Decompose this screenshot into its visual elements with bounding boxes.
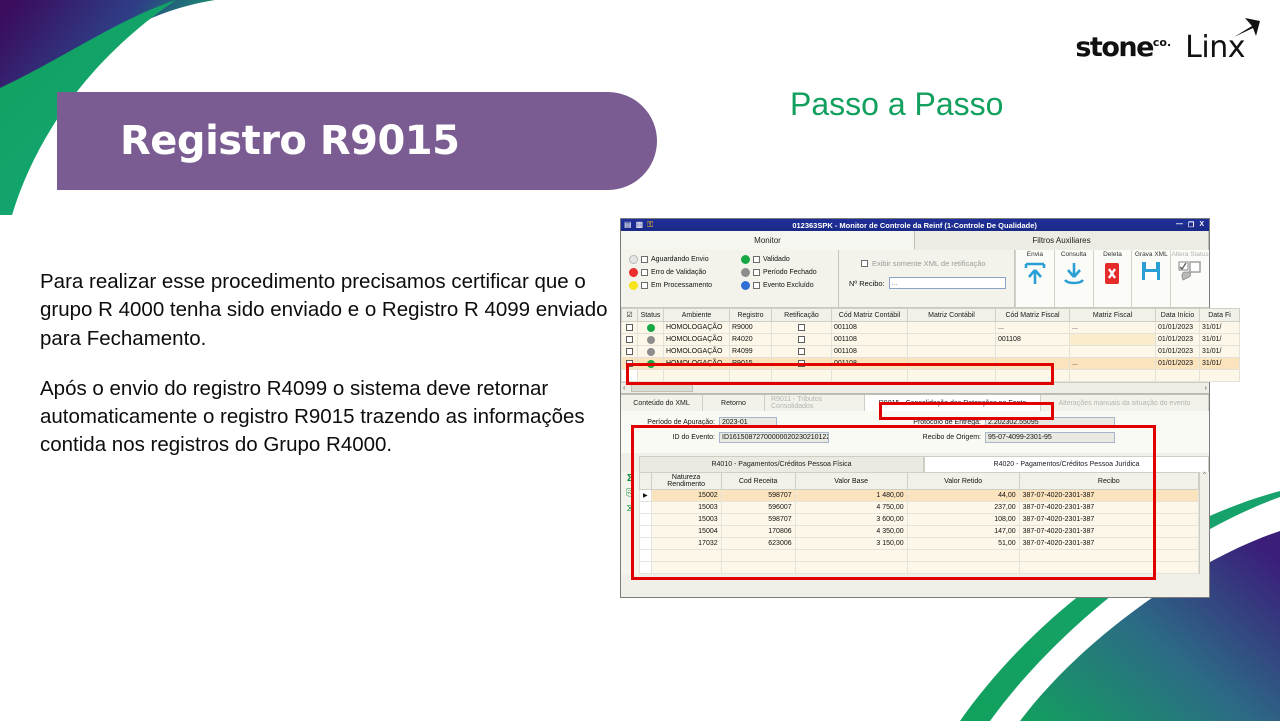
row-checkbox-cell[interactable] xyxy=(622,334,638,346)
subgrid-header-valor-retido[interactable]: Valor Retido xyxy=(907,473,1019,490)
status-bulb-erro-validacao xyxy=(629,268,638,277)
stone-logo-sup: co. xyxy=(1153,36,1171,49)
header-ambiente[interactable]: Ambiente xyxy=(664,309,730,322)
label-protocolo-entrega: Protocolo de Entrega: xyxy=(891,419,981,426)
events-table: ☑ Status Ambiente Registro Retificação C… xyxy=(621,308,1240,382)
row-data-inicio: 01/01/2023 xyxy=(1156,358,1200,370)
copy-rows-icon[interactable]: ⎘ xyxy=(626,489,634,499)
legend-checkbox-aguardando-envio[interactable] xyxy=(641,256,648,263)
paragraph-1: Para realizar esse procedimento precisam… xyxy=(40,268,615,353)
subgrid-valor-retido xyxy=(907,562,1019,574)
subtab-r4020-pessoa-juridica[interactable]: R4020 - Pagamentos/Créditos Pessoa Juríd… xyxy=(924,456,1209,472)
r9015-detail-pane: Período de Apuração: 2023-01 ID do Event… xyxy=(621,411,1209,453)
row-status-cell xyxy=(638,322,664,334)
row-registro: R4020 xyxy=(730,334,772,346)
status-bulb-evento-excluido xyxy=(741,281,750,290)
row-status-cell xyxy=(638,370,664,382)
subgrid-row-marker xyxy=(640,538,652,550)
row-cod-matriz-fiscal xyxy=(996,370,1070,382)
row-registro: R9000 xyxy=(730,322,772,334)
legend-label-em-processamento: Em Processamento xyxy=(651,282,712,289)
subgrid-natureza-rendimento: 15003 xyxy=(651,514,721,526)
row-cod-matriz-contabil xyxy=(832,370,908,382)
legend-checkbox-evento-excluido[interactable] xyxy=(753,282,760,289)
row-checkbox[interactable] xyxy=(626,336,633,343)
subgrid-cod-receita: 623006 xyxy=(721,538,795,550)
deleta-button-label: Deleta xyxy=(1103,252,1122,259)
subgrid-valor-retido: 51,00 xyxy=(907,538,1019,550)
legend-label-aguardando-envio: Aguardando Envio xyxy=(651,256,709,263)
subgrid-natureza-rendimento: 15003 xyxy=(651,502,721,514)
table-row[interactable] xyxy=(622,370,1240,382)
status-dot xyxy=(647,324,655,332)
recibo-input[interactable]: ... xyxy=(889,277,1006,289)
row-matriz-fiscal xyxy=(1070,370,1156,382)
row-retificacao-checkbox[interactable] xyxy=(798,324,805,331)
deleta-button[interactable]: Deleta xyxy=(1093,250,1132,307)
row-registro: R4099 xyxy=(730,346,772,358)
row-matriz-contabil xyxy=(908,370,996,382)
label-id-evento: ID do Evento: xyxy=(629,434,715,441)
row-registro xyxy=(730,370,772,382)
subgrid-row-marker xyxy=(640,514,652,526)
row-data-fim xyxy=(1200,370,1240,382)
list-item[interactable]: 15003 598707 3 600,00 108,00 387-07-4020… xyxy=(640,514,1199,526)
subgrid-natureza-rendimento: 15004 xyxy=(651,526,721,538)
subgrid-cod-receita: 598707 xyxy=(721,514,795,526)
row-matriz-contabil xyxy=(908,334,996,346)
envia-button-label: Envia xyxy=(1027,252,1043,259)
row-retificacao-checkbox[interactable] xyxy=(798,360,805,367)
status-dot xyxy=(647,348,655,356)
row-data-inicio: 01/01/2023 xyxy=(1156,346,1200,358)
filter-box: Exibir somente XML de retificação Nº Rec… xyxy=(839,250,1015,307)
grid-icon[interactable]: ▩ xyxy=(636,221,644,229)
upload-icon xyxy=(1024,260,1046,286)
row-ambiente xyxy=(664,370,730,382)
recibo-filter-row: Nº Recibo: ... xyxy=(849,277,1006,289)
row-checkbox-cell xyxy=(622,370,638,382)
row-cod-matriz-fiscal: 001108 xyxy=(996,334,1070,346)
field-periodo-apuracao: Período de Apuração: 2023-01 xyxy=(629,417,829,428)
window-titlebar: ▤ ▩ ⚿ 012363SPK - Monitor de Controle da… xyxy=(621,219,1209,231)
row-retificacao-cell[interactable] xyxy=(772,334,832,346)
input-id-evento[interactable]: ID16150872700000020230210122 xyxy=(719,432,829,443)
row-retificacao-cell xyxy=(772,370,832,382)
trash-delete-icon xyxy=(1101,260,1123,286)
subgrid-valor-retido: 147,00 xyxy=(907,526,1019,538)
altera-status-button: Altera Status xyxy=(1170,250,1209,307)
legend-item-evento-excluido[interactable]: Evento Excluído xyxy=(741,281,817,290)
legend-label-evento-excluido: Evento Excluído xyxy=(763,282,814,289)
reinf-monitor-window: ▤ ▩ ⚿ 012363SPK - Monitor de Controle da… xyxy=(620,218,1210,598)
header-cod-matriz-fiscal[interactable]: Cód Matriz Fiscal xyxy=(996,309,1070,322)
subgrid-header-row: Natureza Rendimento Cod Receita Valor Ba… xyxy=(640,473,1199,490)
row-retificacao-cell[interactable] xyxy=(772,322,832,334)
detail-right-fields: Protocolo de Entrega: 2.202302.55095 Rec… xyxy=(891,417,1115,443)
row-cod-matriz-contabil: 001108 xyxy=(832,334,908,346)
body-copy: Para realizar esse procedimento precisam… xyxy=(40,268,615,482)
header-matriz-contabil[interactable]: Matriz Contábil xyxy=(908,309,996,322)
field-recibo-origem: Recibo de Origem: 95-07-4099-2301-95 xyxy=(891,432,1115,443)
list-item[interactable]: 15004 170806 4 350,00 147,00 387-07-4020… xyxy=(640,526,1199,538)
scroll-right-arrow[interactable]: › xyxy=(1205,385,1207,392)
row-data-fim: 31/01/ xyxy=(1200,322,1240,334)
subgrid-recibo: 387-07-4020-2301-387 xyxy=(1019,490,1198,502)
page-title-pill: Registro R9015 xyxy=(57,92,657,190)
status-bulb-aguardando-envio xyxy=(629,255,638,264)
subgrid-valor-retido: 44,00 xyxy=(907,490,1019,502)
subgrid-valor-retido xyxy=(907,550,1019,562)
row-retificacao-checkbox[interactable] xyxy=(798,348,805,355)
legend-item-periodo-fechado[interactable]: Período Fechado xyxy=(741,268,817,277)
row-matriz-fiscal: ... xyxy=(1070,322,1156,334)
status-legend: Aguardando Envio Erro de Validação Em Pr… xyxy=(621,250,839,307)
stone-logo-text: stone xyxy=(1075,32,1153,63)
toolbar-row: Aguardando Envio Erro de Validação Em Pr… xyxy=(621,250,1209,308)
action-toolbar: Envia Consulta Deleta xyxy=(1015,250,1209,307)
subgrid-valor-retido: 237,00 xyxy=(907,502,1019,514)
tab-filtros-auxiliares[interactable]: Filtros Auxiliares xyxy=(915,231,1209,250)
row-ambiente: HOMOLOGAÇÃO xyxy=(664,346,730,358)
header-data-inicio[interactable]: Data Início xyxy=(1156,309,1200,322)
maximize-button[interactable]: ❐ xyxy=(1188,221,1194,229)
sum-sigma-icon[interactable]: Σ xyxy=(627,474,633,484)
row-status-cell xyxy=(638,334,664,346)
tab-conteudo-do-xml[interactable]: Conteúdo do XML xyxy=(621,395,703,411)
header-cod-matriz-contabil[interactable]: Cód Matriz Contábil xyxy=(832,309,908,322)
download-icon xyxy=(1063,260,1085,286)
subgrid-vertical-tools: Σ ⎘ ⧖ xyxy=(621,472,639,574)
subgrid-row-marker xyxy=(640,550,652,562)
field-id-evento: ID do Evento: ID161508727000000202302101… xyxy=(629,432,829,443)
events-grid: ☑ Status Ambiente Registro Retificação C… xyxy=(621,308,1209,394)
field-protocolo-entrega: Protocolo de Entrega: 2.202302.55095 xyxy=(891,417,1115,428)
row-retificacao-cell[interactable] xyxy=(772,358,832,370)
consulta-button-label: Consulta xyxy=(1061,252,1087,259)
header-status[interactable]: Status xyxy=(638,309,664,322)
window-controls: — ❐ X xyxy=(1176,221,1206,229)
row-matriz-fiscal xyxy=(1070,346,1156,358)
subgrid-header-cod-receita[interactable]: Cod Receita xyxy=(721,473,795,490)
header-data-fim[interactable]: Data Fi xyxy=(1200,309,1240,322)
tab-r9015-consolidacao-retencoes[interactable]: R9015 - Consolidação das Retenções na Fo… xyxy=(865,395,1041,411)
linx-swoosh-icon xyxy=(1232,17,1262,39)
row-checkbox[interactable] xyxy=(626,360,633,367)
xml-retificacao-checkbox[interactable] xyxy=(861,260,868,267)
table-row[interactable]: HOMOLOGAÇÃO R4020 001108 001108 01/01/20… xyxy=(622,334,1240,346)
page-title: Registro R9015 xyxy=(120,118,459,164)
row-data-fim: 31/01/ xyxy=(1200,346,1240,358)
list-item[interactable]: 15003 596007 4 750,00 237,00 387-07-4020… xyxy=(640,502,1199,514)
window-title: 012363SPK - Monitor de Controle da Reinf… xyxy=(653,221,1176,230)
row-status-cell xyxy=(638,346,664,358)
list-item[interactable]: ▶ 15002 598707 1 480,00 44,00 387-07-402… xyxy=(640,490,1199,502)
status-bulb-periodo-fechado xyxy=(741,268,750,277)
envia-button[interactable]: Envia xyxy=(1015,250,1054,307)
subgrid-cod-receita: 596007 xyxy=(721,502,795,514)
subgrid-recibo xyxy=(1019,562,1198,574)
subgrid-recibo xyxy=(1019,550,1198,562)
subgrid-valor-base xyxy=(795,562,907,574)
status-legend-right-column: Validado Período Fechado Evento Excluído xyxy=(741,255,817,307)
tab-r9011-tributos-consolidados[interactable]: R9011 - Tributos Consolidados xyxy=(765,395,865,411)
detail-tab-bar: Conteúdo do XML Retorno R9011 - Tributos… xyxy=(621,394,1209,411)
hand-check-icon xyxy=(1177,260,1203,282)
section-heading: Passo a Passo xyxy=(790,86,1003,123)
row-ambiente: HOMOLOGAÇÃO xyxy=(664,334,730,346)
subgrid-header-marker xyxy=(640,473,652,490)
legend-item-erro-validacao[interactable]: Erro de Validação xyxy=(629,268,741,277)
detail-field-grid: Período de Apuração: 2023-01 ID do Event… xyxy=(629,417,1201,443)
row-cod-matriz-fiscal: ... xyxy=(996,322,1070,334)
titlebar-icons: ▤ ▩ ⚿ xyxy=(624,221,653,229)
subgrid-row-marker xyxy=(640,562,652,574)
subgrid-natureza-rendimento: 15002 xyxy=(651,490,721,502)
legend-checkbox-em-processamento[interactable] xyxy=(641,282,648,289)
row-data-inicio: 01/01/2023 xyxy=(1156,322,1200,334)
row-ambiente: HOMOLOGAÇÃO xyxy=(664,322,730,334)
row-matriz-contabil xyxy=(908,346,996,358)
label-recibo-origem: Recibo de Origem: xyxy=(891,434,981,441)
payment-subgrid-wrap: Σ ⎘ ⧖ Natureza Rendimento Cod Receita Va… xyxy=(621,472,1209,574)
row-checkbox-cell[interactable] xyxy=(622,322,638,334)
grava-xml-button-label: Grava XML xyxy=(1135,252,1168,259)
row-cod-matriz-contabil: 001108 xyxy=(832,358,908,370)
subgrid-valor-retido: 108,00 xyxy=(907,514,1019,526)
paragraph-2: Após o envio do registro R4099 o sistema… xyxy=(40,375,615,460)
legend-label-periodo-fechado: Período Fechado xyxy=(763,269,817,276)
close-button[interactable]: X xyxy=(1199,221,1204,229)
subgrid-header-valor-base[interactable]: Valor Base xyxy=(795,473,907,490)
row-data-inicio: 01/01/2023 xyxy=(1156,334,1200,346)
floppy-save-icon xyxy=(1140,260,1162,282)
window-menu-icon[interactable]: ▤ xyxy=(624,221,632,229)
list-item[interactable] xyxy=(640,550,1199,562)
row-data-fim: 31/01/ xyxy=(1200,334,1240,346)
legend-item-aguardando-envio[interactable]: Aguardando Envio xyxy=(629,255,741,264)
row-matriz-fiscal xyxy=(1070,334,1156,346)
brand-logos: stoneco. Linx xyxy=(1075,30,1245,65)
subgrid-row-marker xyxy=(640,526,652,538)
header-select-all[interactable]: ☑ xyxy=(622,309,638,322)
subgrid-valor-base: 3 150,00 xyxy=(795,538,907,550)
row-status-cell xyxy=(638,358,664,370)
input-periodo-apuracao[interactable]: 2023-01 xyxy=(719,417,777,428)
top-tab-bar: Monitor Filtros Auxiliares xyxy=(621,231,1209,250)
row-checkbox[interactable] xyxy=(626,324,633,331)
scroll-thumb[interactable] xyxy=(631,384,693,392)
legend-checkbox-periodo-fechado[interactable] xyxy=(753,269,760,276)
label-periodo-apuracao: Período de Apuração: xyxy=(629,419,715,426)
subgrid-cod-receita xyxy=(721,562,795,574)
subgrid-header-recibo[interactable]: Recibo xyxy=(1019,473,1198,490)
subgrid-valor-base: 4 350,00 xyxy=(795,526,907,538)
tab-monitor[interactable]: Monitor xyxy=(621,231,915,250)
minimize-button[interactable]: — xyxy=(1176,221,1183,229)
status-dot xyxy=(647,360,655,368)
row-retificacao-cell[interactable] xyxy=(772,346,832,358)
grid-horizontal-scrollbar[interactable]: ‹ › xyxy=(621,382,1209,393)
stone-logo: stoneco. xyxy=(1075,32,1171,63)
table-row[interactable]: HOMOLOGAÇÃO R9000 001108 ... ... 01/01/2… xyxy=(622,322,1240,334)
subgrid-cod-receita: 170806 xyxy=(721,526,795,538)
input-protocolo-entrega[interactable]: 2.202302.55095 xyxy=(985,417,1115,428)
legend-checkbox-erro-validacao[interactable] xyxy=(641,269,648,276)
list-item[interactable]: 17032 623006 3 150,00 51,00 387-07-4020-… xyxy=(640,538,1199,550)
subgrid-valor-base: 4 750,00 xyxy=(795,502,907,514)
header-matriz-fiscal[interactable]: Matriz Fiscal xyxy=(1070,309,1156,322)
row-data-fim: 31/01/ xyxy=(1200,358,1240,370)
table-row[interactable]: HOMOLOGAÇÃO R9015 001108 ... ... 01/01/2… xyxy=(622,358,1240,370)
row-cod-matriz-contabil: 001108 xyxy=(832,346,908,358)
altera-status-button-label: Altera Status xyxy=(1171,252,1208,259)
row-matriz-contabil xyxy=(908,322,996,334)
detail-left-fields: Período de Apuração: 2023-01 ID do Event… xyxy=(629,417,829,443)
subgrid-natureza-rendimento xyxy=(651,550,721,562)
subgrid-valor-base: 1 480,00 xyxy=(795,490,907,502)
row-data-inicio xyxy=(1156,370,1200,382)
subgrid-vertical-scrollbar[interactable]: ^ xyxy=(1199,472,1209,574)
recibo-label: Nº Recibo: xyxy=(849,279,885,288)
row-cod-matriz-contabil: 001108 xyxy=(832,322,908,334)
subgrid-header-natureza-rendimento[interactable]: Natureza Rendimento xyxy=(651,473,721,490)
table-row[interactable]: HOMOLOGAÇÃO R4099 001108 01/01/2023 31/0… xyxy=(622,346,1240,358)
row-checkbox-cell[interactable] xyxy=(622,346,638,358)
subgrid-natureza-rendimento xyxy=(651,562,721,574)
input-recibo-origem[interactable]: 95-07-4099-2301-95 xyxy=(985,432,1115,443)
header-retificacao[interactable]: Retificação xyxy=(772,309,832,322)
events-table-header-row: ☑ Status Ambiente Registro Retificação C… xyxy=(622,309,1240,322)
subgrid-row-marker: ▶ xyxy=(640,490,652,502)
tab-retorno[interactable]: Retorno xyxy=(703,395,765,411)
subgrid-valor-base: 3 600,00 xyxy=(795,514,907,526)
xml-retificacao-filter[interactable]: Exibir somente XML de retificação xyxy=(849,259,1006,268)
subgrid-row-marker xyxy=(640,502,652,514)
consulta-button[interactable]: Consulta xyxy=(1054,250,1093,307)
row-checkbox-cell[interactable] xyxy=(622,358,638,370)
filter-funnel-icon[interactable]: ⧖ xyxy=(626,504,633,514)
row-matriz-fiscal: ... xyxy=(1070,358,1156,370)
subgrid-recibo: 387-07-4020-2301-387 xyxy=(1019,538,1198,550)
status-dot xyxy=(647,336,655,344)
row-cod-matriz-fiscal xyxy=(996,346,1070,358)
list-item[interactable] xyxy=(640,562,1199,574)
subgrid-recibo: 387-07-4020-2301-387 xyxy=(1019,526,1198,538)
row-retificacao-checkbox[interactable] xyxy=(798,336,805,343)
row-registro: R9015 xyxy=(730,358,772,370)
status-legend-left-column: Aguardando Envio Erro de Validação Em Pr… xyxy=(629,255,741,307)
subtab-r4010-pessoa-fisica[interactable]: R4010 - Pagamentos/Créditos Pessoa Físic… xyxy=(639,456,924,472)
status-bulb-em-processamento xyxy=(629,281,638,290)
xml-retificacao-label: Exibir somente XML de retificação xyxy=(872,259,986,268)
legend-item-validado[interactable]: Validado xyxy=(741,255,817,264)
subgrid-valor-base xyxy=(795,550,907,562)
linx-logo: Linx xyxy=(1185,30,1245,65)
subgrid-cod-receita xyxy=(721,550,795,562)
legend-item-em-processamento[interactable]: Em Processamento xyxy=(629,281,741,290)
subgrid-recibo: 387-07-4020-2301-387 xyxy=(1019,514,1198,526)
tab-alteracoes-manuais[interactable]: Alterações manuais da situação do evento xyxy=(1041,395,1209,411)
header-registro[interactable]: Registro xyxy=(730,309,772,322)
payment-subgrid-table: Natureza Rendimento Cod Receita Valor Ba… xyxy=(639,472,1199,574)
row-ambiente: HOMOLOGAÇÃO xyxy=(664,358,730,370)
scroll-left-arrow[interactable]: ‹ xyxy=(623,385,625,392)
subgrid-cod-receita: 598707 xyxy=(721,490,795,502)
payment-subgrid-body: ▶ 15002 598707 1 480,00 44,00 387-07-402… xyxy=(640,490,1199,574)
row-checkbox[interactable] xyxy=(626,348,633,355)
subgrid-natureza-rendimento: 17032 xyxy=(651,538,721,550)
subgrid-recibo: 387-07-4020-2301-387 xyxy=(1019,502,1198,514)
legend-checkbox-validado[interactable] xyxy=(753,256,760,263)
row-matriz-contabil xyxy=(908,358,996,370)
legend-label-validado: Validado xyxy=(763,256,790,263)
scroll-up-arrow[interactable]: ^ xyxy=(1203,472,1206,478)
payment-sub-tab-bar: R4010 - Pagamentos/Créditos Pessoa Físic… xyxy=(639,456,1209,472)
status-bulb-validado xyxy=(741,255,750,264)
events-table-body: HOMOLOGAÇÃO R9000 001108 ... ... 01/01/2… xyxy=(622,322,1240,382)
grava-xml-button[interactable]: Grava XML xyxy=(1131,250,1170,307)
legend-label-erro-validacao: Erro de Validação xyxy=(651,269,706,276)
row-cod-matriz-fiscal: ... xyxy=(996,358,1070,370)
